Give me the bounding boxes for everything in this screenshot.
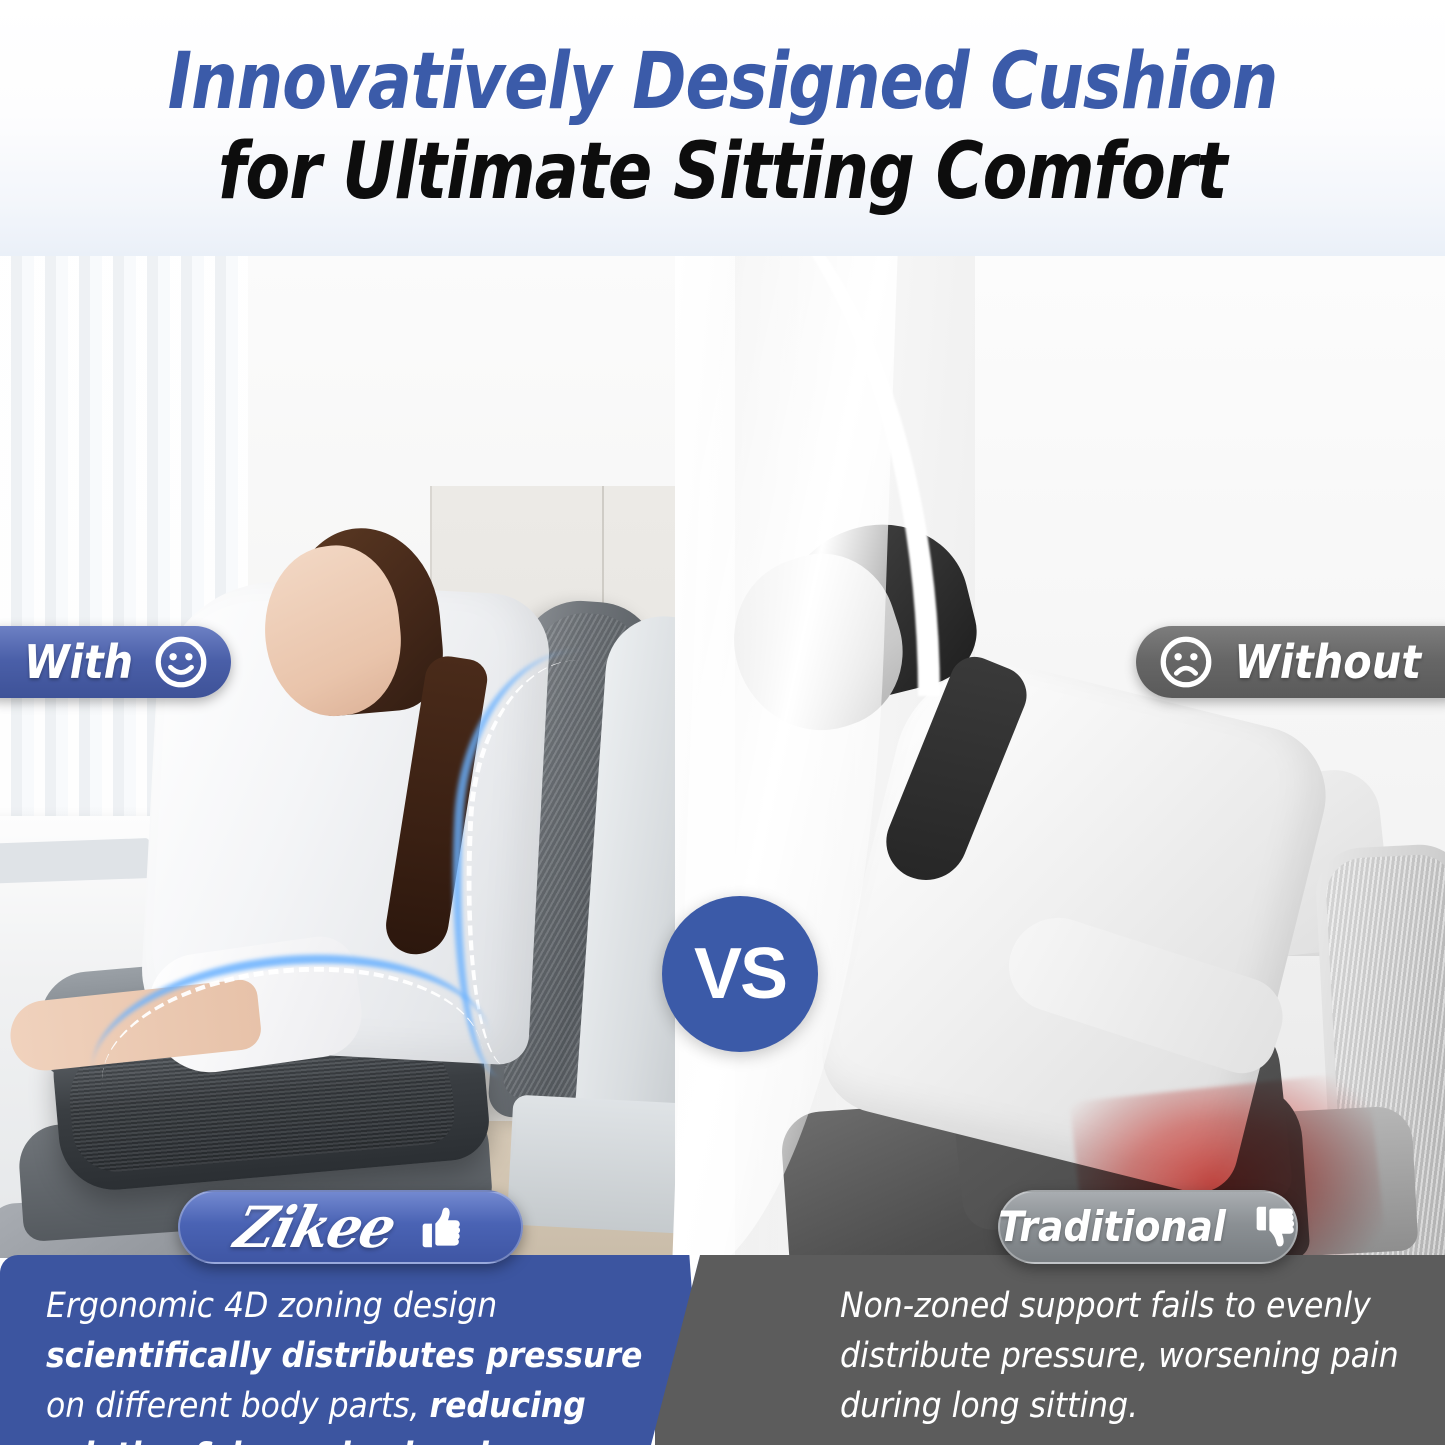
sad-face-icon <box>1158 634 1214 690</box>
brand-badge-zikee[interactable]: Zikee <box>178 1190 523 1264</box>
caption-left-bold1: scientifically distributes pressure <box>46 1336 642 1376</box>
infographic-page: Innovatively Designed Cushion for Ultima… <box>0 0 1445 1445</box>
photo-without-cushion <box>675 256 1445 1258</box>
badge-without-label: Without <box>1234 639 1421 685</box>
thumbs-down-icon <box>1244 1200 1298 1254</box>
caption-left-part2: on different body parts, <box>46 1386 430 1426</box>
headline-secondary: for Ultimate Sitting Comfort <box>218 126 1227 218</box>
caption-left-part1: Ergonomic 4D zoning design <box>46 1286 497 1326</box>
comparison-photo-stage: With Without VS <box>0 256 1445 1258</box>
laptop <box>0 838 151 884</box>
header-banner: Innovatively Designed Cushion for Ultima… <box>0 0 1445 256</box>
label-badge-traditional[interactable]: Traditional <box>998 1190 1298 1264</box>
vs-badge: VS <box>662 896 818 1052</box>
smiley-face-icon <box>153 634 209 690</box>
headline-primary: Innovatively Designed Cushion <box>168 38 1278 126</box>
caption-panels: Ergonomic 4D zoning design scientificall… <box>0 1255 1445 1445</box>
badge-with[interactable]: With <box>0 626 231 698</box>
brand-name-label: Zikee <box>230 1199 400 1256</box>
caption-without-cushion: Non-zoned support fails to evenly distri… <box>840 1281 1410 1431</box>
badge-with-label: With <box>24 639 133 685</box>
traditional-label: Traditional <box>998 1206 1226 1248</box>
caption-with-cushion: Ergonomic 4D zoning design scientificall… <box>46 1281 676 1445</box>
photo-with-cushion <box>0 256 770 1258</box>
vs-label: VS <box>694 938 786 1010</box>
badge-without[interactable]: Without <box>1136 626 1445 698</box>
thumbs-up-icon <box>410 1200 464 1254</box>
